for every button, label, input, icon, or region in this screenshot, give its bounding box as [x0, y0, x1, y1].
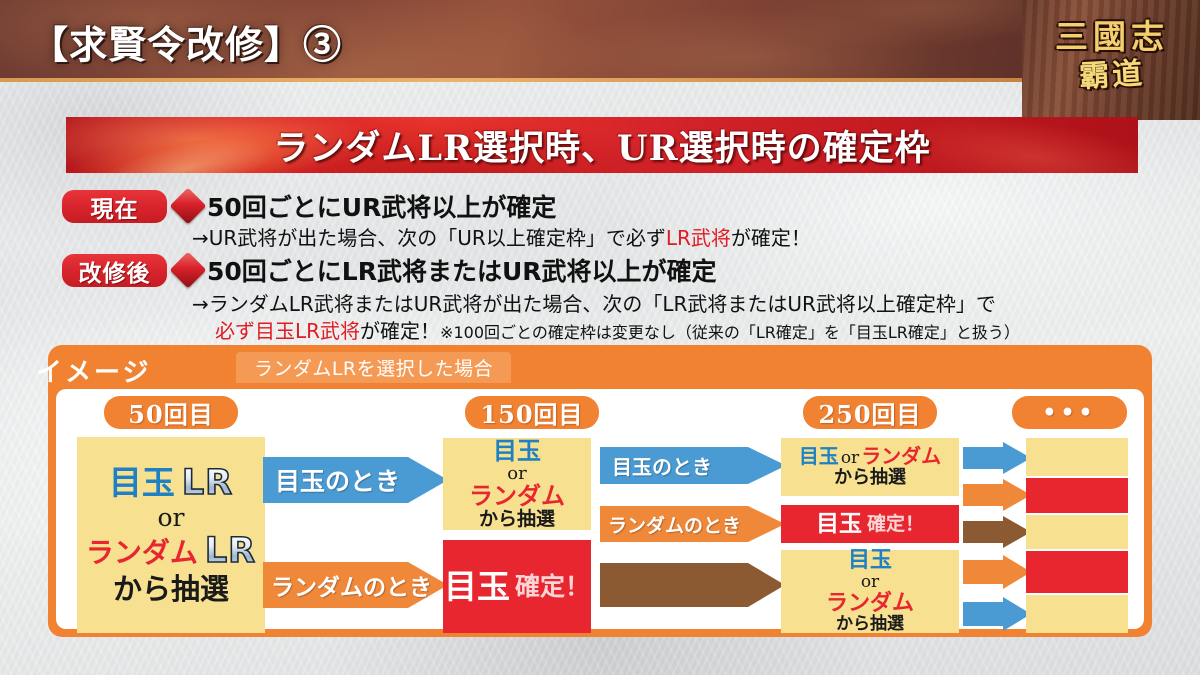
box-col1-line3: ランダム LR: [86, 533, 256, 571]
current-detail: →UR武将が出た場合、次の「UR以上確定枠」で必ずLR武将が確定！: [192, 222, 811, 251]
column-header-more: •••: [1012, 396, 1127, 429]
box-col3-top-c: ランダム: [861, 446, 941, 468]
box-col2-yellow: 目玉 or ランダム から抽選: [443, 438, 591, 530]
box-col2-yellow-l1: 目玉: [493, 438, 541, 464]
arrow-3-b: [963, 479, 1031, 511]
section-banner-title: ランダムLR選択時、UR選択時の確定枠: [66, 117, 1138, 173]
arrow-3-d: [963, 555, 1031, 589]
box-col1-or: or: [157, 504, 184, 531]
current-detail-post: が確定！: [731, 226, 811, 250]
after-detail-post: が確定！: [360, 319, 440, 343]
box-col3-red-b: 確定！: [867, 514, 924, 535]
box-col1-line4: から抽選: [113, 574, 229, 605]
box-col1-line1: 目玉 LR: [109, 465, 233, 503]
box-col3-top-b: or: [841, 449, 859, 467]
box-col2-yellow-l3: ランダム: [469, 483, 565, 509]
logo-sub-text: 霸道: [1035, 46, 1189, 98]
box-col3-red: 目玉 確定！: [781, 505, 959, 543]
top-header-bar: 【求賢令改修】③: [0, 0, 1200, 82]
box-col2-red-b: 確定！: [515, 573, 590, 600]
box-col4-1: [1026, 438, 1128, 476]
arrow-3-e: [963, 597, 1031, 631]
box-col3-yellow-bottom: 目玉 or ランダム から抽選: [781, 550, 959, 633]
arrow-1-bottom-label: ランダムのとき: [263, 562, 432, 608]
box-col3-top-a: 目玉: [799, 446, 839, 468]
image-panel-label: イメージ: [36, 352, 151, 389]
arrow-1-bottom: ランダムのとき: [263, 562, 448, 608]
case-tag: ランダムLRを選択した場合: [236, 352, 511, 383]
box-col2-yellow-l4: から抽選: [479, 509, 555, 530]
box-col1-line3-lr: LR: [205, 533, 256, 571]
arrow-3-a: [963, 442, 1031, 474]
header-gold-stripe: [0, 78, 1200, 82]
arrow-2-bottom: [600, 563, 785, 607]
box-col3-yellow-top-l1: 目玉 or ランダム: [799, 446, 941, 468]
game-logo: 三國志 霸道: [1022, 0, 1200, 120]
arrow-2-top: 目玉のとき: [600, 447, 785, 484]
box-col3-bot-l4: から抽選: [836, 615, 904, 633]
after-detail-line2: 必ず目玉LR武将が確定！※100回ごとの確定枠は変更なし（従来の「LR確定」を「…: [215, 315, 1020, 344]
after-note: ※100回ごとの確定枠は変更なし（従来の「LR確定」を「目玉LR確定」と扱う）: [440, 323, 1020, 342]
after-headline: 50回ごとにLR武将またはUR武将以上が確定: [207, 252, 717, 288]
arrow-1-top: 目玉のとき: [263, 457, 448, 503]
status-badge-current: 現在: [62, 190, 167, 223]
arrow-2-mid: ランダムのとき: [600, 506, 785, 542]
box-col4-4: [1026, 551, 1128, 593]
after-detail-line1: →ランダムLR武将またはUR武将が出た場合、次の「LR武将またはUR武将以上確定…: [192, 288, 996, 317]
box-col4-3: [1026, 515, 1128, 549]
box-col2-red: 目玉 確定！: [443, 540, 591, 633]
arrow-1-top-label: 目玉のとき: [263, 457, 400, 503]
box-col4-2: [1026, 478, 1128, 513]
after-detail-highlight: 必ず目玉LR武将: [215, 319, 360, 343]
box-col3-bot-l3: ランダム: [826, 592, 914, 616]
current-detail-highlight: LR武将: [666, 226, 731, 250]
box-col1-line1-lr: LR: [182, 465, 233, 503]
box-col3-red-a: 目玉: [816, 512, 862, 537]
box-col4-5: [1026, 595, 1128, 633]
arrow-2-mid-label: ランダムのとき: [600, 506, 741, 542]
box-col1: 目玉 LR or ランダム LR から抽選: [77, 437, 265, 633]
box-col1-line3-a: ランダム: [86, 538, 198, 568]
box-col1-line1-a: 目玉: [109, 465, 175, 501]
arrow-3-c: [963, 516, 1031, 548]
column-header-250: 250回目: [803, 396, 937, 429]
box-col3-top-d: から抽選: [834, 468, 906, 487]
box-col2-red-a: 目玉: [444, 569, 510, 605]
section-banner: ランダムLR選択時、UR選択時の確定枠: [66, 117, 1138, 173]
status-badge-after: 改修後: [62, 254, 167, 287]
column-header-50: 50回目: [104, 396, 238, 429]
arrow-2-top-label: 目玉のとき: [600, 447, 712, 484]
box-col3-yellow-top: 目玉 or ランダム から抽選: [781, 438, 959, 496]
current-detail-pre: →UR武将が出た場合、次の「UR以上確定枠」で必ず: [192, 226, 666, 250]
box-col3-bot-l2: or: [861, 573, 879, 591]
box-col3-bot-l1: 目玉: [848, 549, 892, 573]
current-headline: 50回ごとにUR武将以上が確定: [207, 188, 556, 224]
column-header-150: 150回目: [465, 396, 599, 429]
page-title: 【求賢令改修】③: [30, 14, 342, 69]
